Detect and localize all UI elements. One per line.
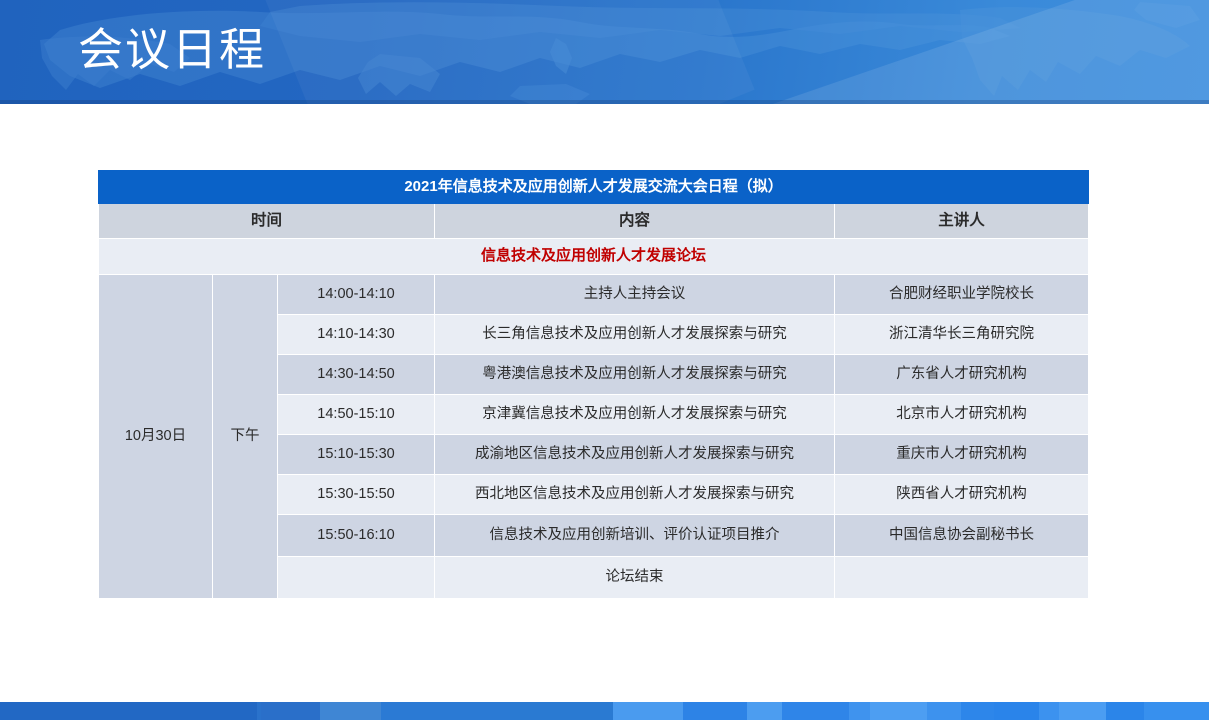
schedule-title-row: 2021年信息技术及应用创新人才发展交流大会日程（拟） bbox=[99, 171, 1089, 204]
footer-block bbox=[261, 702, 319, 720]
column-header-content: 内容 bbox=[435, 204, 835, 239]
conference-schedule-table: 2021年信息技术及应用创新人才发展交流大会日程（拟） 时间 内容 主讲人 信息… bbox=[98, 170, 1089, 599]
footer-block bbox=[1144, 702, 1209, 720]
cell-topic: 粤港澳信息技术及应用创新人才发展探索与研究 bbox=[435, 355, 835, 395]
footer-block bbox=[1059, 702, 1105, 720]
cell-speaker: 广东省人才研究机构 bbox=[835, 355, 1089, 395]
schedule-title: 2021年信息技术及应用创新人才发展交流大会日程（拟） bbox=[99, 171, 1089, 204]
cell-time bbox=[278, 557, 435, 599]
cell-speaker: 合肥财经职业学院校长 bbox=[835, 275, 1089, 315]
cell-date: 10月30日 bbox=[99, 275, 213, 599]
footer-block bbox=[994, 702, 1039, 720]
cell-speaker bbox=[835, 557, 1089, 599]
cell-speaker: 浙江清华长三角研究院 bbox=[835, 315, 1089, 355]
cell-time: 14:50-15:10 bbox=[278, 395, 435, 435]
cell-topic: 主持人主持会议 bbox=[435, 275, 835, 315]
page-footer-bar bbox=[0, 702, 1209, 720]
section-title: 信息技术及应用创新人才发展论坛 bbox=[99, 239, 1089, 275]
footer-block bbox=[1039, 702, 1059, 720]
cell-topic: 长三角信息技术及应用创新人才发展探索与研究 bbox=[435, 315, 835, 355]
footer-block bbox=[849, 702, 870, 720]
cell-time: 14:00-14:10 bbox=[278, 275, 435, 315]
cell-topic: 西北地区信息技术及应用创新人才发展探索与研究 bbox=[435, 475, 835, 515]
cell-time: 14:30-14:50 bbox=[278, 355, 435, 395]
cell-period: 下午 bbox=[213, 275, 278, 599]
schedule-header-row: 时间 内容 主讲人 bbox=[99, 204, 1089, 239]
column-header-speaker: 主讲人 bbox=[835, 204, 1089, 239]
cell-time: 15:30-15:50 bbox=[278, 475, 435, 515]
cell-topic: 京津冀信息技术及应用创新人才发展探索与研究 bbox=[435, 395, 835, 435]
cell-time: 15:10-15:30 bbox=[278, 435, 435, 475]
page-header-banner: 会议日程 bbox=[0, 0, 1209, 104]
cell-time: 14:10-14:30 bbox=[278, 315, 435, 355]
footer-block bbox=[613, 702, 682, 720]
schedule-section-row: 信息技术及应用创新人才发展论坛 bbox=[99, 239, 1089, 275]
footer-block bbox=[782, 702, 849, 720]
cell-topic: 成渝地区信息技术及应用创新人才发展探索与研究 bbox=[435, 435, 835, 475]
column-header-time: 时间 bbox=[99, 204, 435, 239]
footer-block bbox=[486, 702, 510, 720]
table-row: 10月30日 下午 14:00-14:10 主持人主持会议 合肥财经职业学院校长 bbox=[99, 275, 1089, 315]
footer-block bbox=[683, 702, 748, 720]
footer-block bbox=[0, 702, 257, 720]
footer-block bbox=[747, 702, 782, 720]
cell-speaker: 重庆市人才研究机构 bbox=[835, 435, 1089, 475]
cell-speaker: 北京市人才研究机构 bbox=[835, 395, 1089, 435]
footer-block bbox=[927, 702, 960, 720]
footer-block bbox=[510, 702, 613, 720]
footer-block bbox=[320, 702, 381, 720]
cell-speaker: 中国信息协会副秘书长 bbox=[835, 515, 1089, 557]
footer-block bbox=[870, 702, 927, 720]
footer-block bbox=[1106, 702, 1145, 720]
cell-speaker: 陕西省人才研究机构 bbox=[835, 475, 1089, 515]
cell-topic: 信息技术及应用创新培训、评价认证项目推介 bbox=[435, 515, 835, 557]
page-title: 会议日程 bbox=[78, 22, 266, 78]
footer-block bbox=[961, 702, 994, 720]
banner-diagonal-overlay-secondary bbox=[245, 0, 754, 104]
banner-bottom-rule bbox=[0, 100, 1209, 104]
cell-topic: 论坛结束 bbox=[435, 557, 835, 599]
footer-block bbox=[381, 702, 486, 720]
cell-time: 15:50-16:10 bbox=[278, 515, 435, 557]
schedule-table-container: 2021年信息技术及应用创新人才发展交流大会日程（拟） 时间 内容 主讲人 信息… bbox=[98, 170, 1088, 599]
